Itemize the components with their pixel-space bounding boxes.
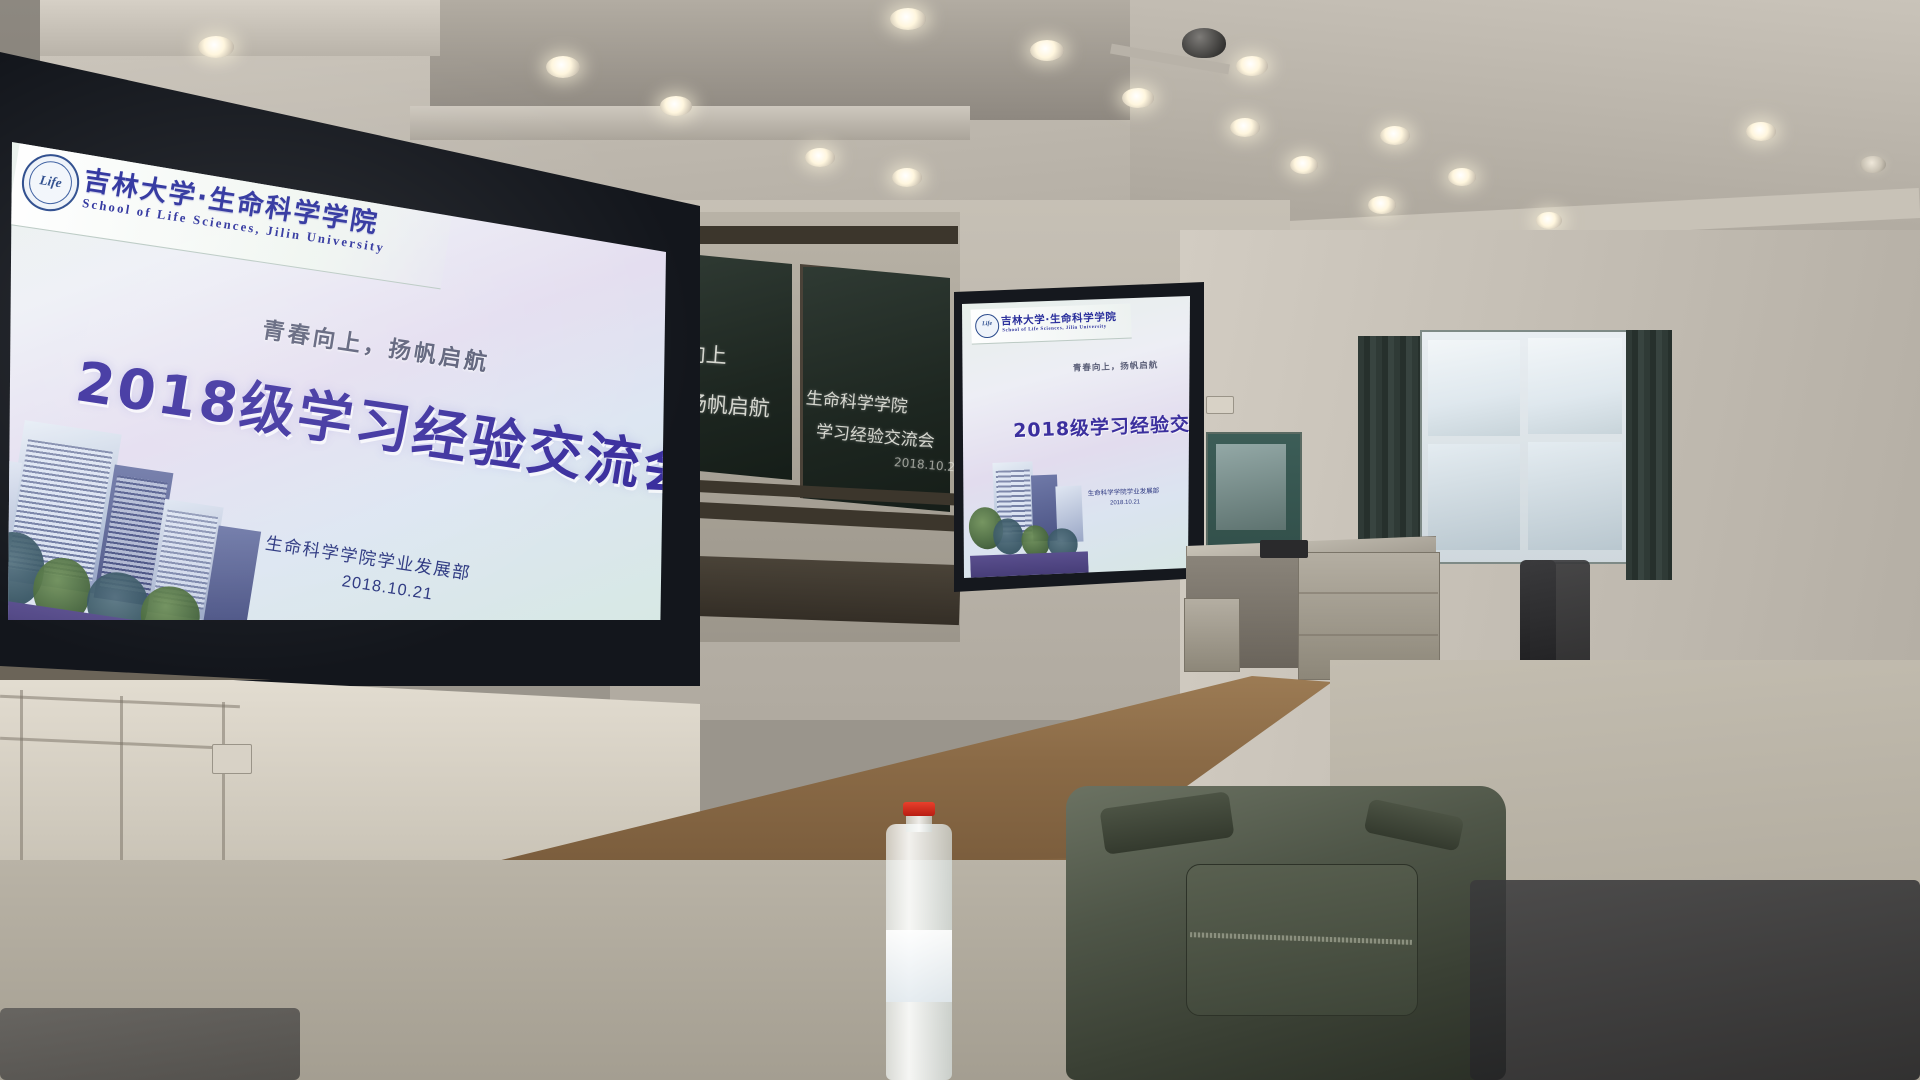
wall-sign [1206,396,1234,414]
slide2-building-photo [966,449,1089,578]
slide2-title: 2018级学习经验交流会 [1013,408,1190,443]
wall-panel-line [20,690,23,870]
university-logo-icon: Life [18,150,84,215]
lecture-hall-photo: 春向上 扬帆启航 生命科学学院 学习经验交流会 2018.10.21 [0,0,1920,1080]
ceiling-recess-center [430,0,1130,120]
downlight [1746,122,1776,141]
water-bottle[interactable] [886,802,952,1080]
downlight [1368,196,1396,214]
downlight [198,36,234,58]
chalkboard-frame-upper [664,226,958,244]
bottle-cap [903,802,935,816]
wall-panel-line [222,702,225,882]
logo-mark-text-small: Life [976,321,998,328]
slide-content-secondary: Life 吉林大学·生命科学学院 School of Life Sciences… [962,296,1190,578]
equipment-rack [1184,598,1240,672]
slide2-header-band: Life 吉林大学·生命科学学院 School of Life Sciences… [971,304,1132,345]
downlight [1536,212,1562,229]
foreground-object [1470,880,1920,1080]
downlight [1290,156,1318,174]
downlight [892,168,922,187]
secondary-projection-screen[interactable]: Life 吉林大学·生命科学学院 School of Life Sciences… [962,296,1190,578]
downlight [1448,168,1476,186]
downlight [1230,118,1260,137]
window-curtain [1358,336,1420,572]
downlight [1860,156,1886,173]
backpack-handle [1364,798,1465,851]
chalkboard-frame-lower [663,555,961,625]
backpack[interactable] [1066,786,1506,1080]
door-window [1216,444,1286,530]
downlight [546,56,580,78]
slide2-subtitle: 青春向上，扬帆启航 [1073,359,1159,374]
power-outlet[interactable] [212,744,252,774]
window-pane [1428,340,1520,436]
downlight [1122,88,1154,108]
downlight [1380,126,1410,145]
wall-panel-line [120,696,123,876]
slide-date: 2018.10.21 [340,573,434,605]
downlight [890,8,926,30]
slide2-date: 2018.10.21 [1110,499,1140,506]
podium-seam [1298,634,1438,636]
downlight [805,148,835,167]
downlight [1236,56,1268,76]
downlight [1030,40,1064,61]
window-pane [1528,442,1622,550]
bottle-label [886,930,952,1002]
podium-seam [1298,592,1438,594]
slide2-organizer: 生命科学学院学业发展部 [1087,485,1159,498]
podium-equipment[interactable] [1260,540,1308,558]
university-logo-icon-small: Life [975,314,1000,339]
backpack-strap [1099,791,1234,855]
security-camera-icon [1182,28,1226,58]
ceiling-panel-soffit [410,106,970,140]
downlight [660,96,692,116]
foreground-object-left [0,1008,300,1080]
window-pane [1428,444,1520,550]
window-curtain-right [1626,330,1672,580]
window-pane [1528,338,1622,434]
